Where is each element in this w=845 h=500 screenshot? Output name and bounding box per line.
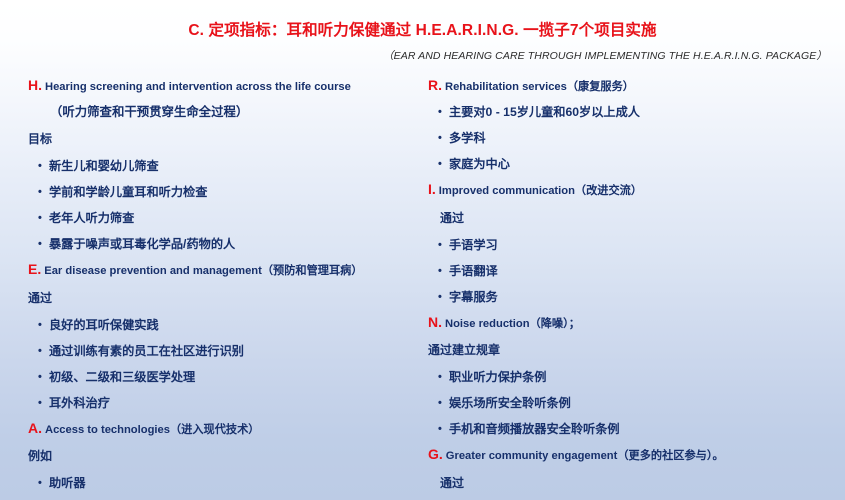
bullet-dot-icon: •: [438, 265, 449, 277]
list-item: •多学科: [428, 124, 833, 150]
list-item: •手机和音频播放器安全聆听条例: [428, 415, 833, 441]
list-item: •助听器: [28, 469, 428, 495]
bullet-dot-icon: •: [438, 371, 449, 383]
bullet-dot-icon: •: [38, 319, 49, 331]
program-heading-label: Rehabilitation services（康复服务）: [445, 81, 634, 93]
program-letter: I.: [428, 181, 436, 197]
program-heading-e: E.Ear disease prevention and management（…: [28, 256, 428, 282]
list-item-label: 手语翻译: [449, 264, 498, 278]
program-heading-h: H.Hearing screening and intervention acr…: [28, 72, 428, 98]
list-item: •老年人听力筛查: [28, 204, 428, 230]
list-item-label: 字幕服务: [449, 290, 498, 304]
list-item-label: 初级、二级和三级医学处理: [49, 370, 195, 384]
program-heading-label: Hearing screening and intervention acros…: [45, 81, 351, 93]
list-item-label: 多学科: [449, 131, 486, 145]
bullet-dot-icon: •: [38, 371, 49, 383]
list-item: •人工耳蜗: [28, 495, 428, 500]
bullet-dot-icon: •: [438, 158, 449, 170]
section-subheading: 通过: [28, 283, 428, 311]
bullet-dot-icon: •: [438, 397, 449, 409]
program-letter: R.: [428, 77, 442, 93]
bullet-dot-icon: •: [38, 345, 49, 357]
content-columns: H.Hearing screening and intervention acr…: [0, 72, 845, 500]
bullet-dot-icon: •: [38, 238, 49, 250]
list-item-label: 学前和学龄儿童耳和听力检查: [49, 185, 207, 199]
program-heading-a: A.Access to technologies（进入现代技术）: [28, 415, 428, 441]
title-block: C. 定项指标：耳和听力保健通过 H.E.A.R.I.N.G. 一揽子7个项目实…: [0, 22, 845, 63]
bullet-dot-icon: •: [38, 186, 49, 198]
list-item-label: 职业听力保护条例: [449, 370, 547, 384]
bullet-dot-icon: •: [38, 212, 49, 224]
list-item-label: 娱乐场所安全聆听条例: [449, 396, 571, 410]
program-heading-g: G.Greater community engagement（更多的社区参与）。: [428, 441, 833, 467]
right-column: R.Rehabilitation services（康复服务）•主要对0 - 1…: [428, 72, 833, 500]
bullet-dot-icon: •: [38, 477, 49, 489]
list-item-label: 手语学习: [449, 238, 498, 252]
left-column: H.Hearing screening and intervention acr…: [28, 72, 428, 500]
program-heading-n: N.Noise reduction（降噪）；: [428, 309, 833, 335]
list-item: •字幕服务: [428, 283, 833, 309]
list-item: •手语翻译: [428, 257, 833, 283]
list-item: •娱乐场所安全聆听条例: [428, 389, 833, 415]
list-item-label: 耳外科治疗: [49, 396, 110, 410]
list-item-label: 老年人听力筛查: [49, 211, 134, 225]
list-item: •手语学习: [428, 231, 833, 257]
program-heading-label: Noise reduction（降噪）；: [445, 318, 580, 330]
list-item: •家庭为中心: [428, 150, 833, 176]
section-subheading: 目标: [28, 124, 428, 152]
page-title: C. 定项指标：耳和听力保健通过 H.E.A.R.I.N.G. 一揽子7个项目实…: [0, 22, 845, 40]
list-item-label: 助听器: [49, 476, 86, 490]
bullet-dot-icon: •: [438, 239, 449, 251]
program-letter: H.: [28, 77, 42, 93]
list-item-label: 家庭为中心: [449, 157, 510, 171]
list-item: •初级、二级和三级医学处理: [28, 363, 428, 389]
list-item: •主要对0 - 15岁儿童和60岁以上成人: [428, 98, 833, 124]
bullet-dot-icon: •: [438, 423, 449, 435]
list-item-label: 手机和音频播放器安全聆听条例: [449, 422, 620, 436]
program-heading-label: Access to technologies（进入现代技术）: [45, 424, 259, 436]
list-item: •新生儿和婴幼儿筛查: [28, 152, 428, 178]
list-item: •通过训练有素的员工在社区进行识别: [28, 337, 428, 363]
list-item: •耳外科治疗: [28, 389, 428, 415]
list-item-label: 新生儿和婴幼儿筛查: [49, 159, 159, 173]
section-subheading: 通过建立规章: [428, 335, 833, 363]
bullet-dot-icon: •: [38, 397, 49, 409]
list-item: •职业听力保护条例: [428, 363, 833, 389]
bullet-dot-icon: •: [38, 160, 49, 172]
list-item-label: 暴露于噪声或耳毒化学品/药物的人: [49, 237, 235, 251]
program-letter: G.: [428, 446, 443, 462]
slide-canvas: C. 定项指标：耳和听力保健通过 H.E.A.R.I.N.G. 一揽子7个项目实…: [0, 0, 845, 500]
program-heading-label: Ear disease prevention and management（预防…: [44, 265, 362, 277]
list-item-label: 通过训练有素的员工在社区进行识别: [49, 344, 244, 358]
program-heading-label: Greater community engagement（更多的社区参与）。: [446, 450, 724, 462]
bullet-dot-icon: •: [438, 106, 449, 118]
section-subheading: 通过: [428, 468, 833, 496]
bullet-dot-icon: •: [438, 291, 449, 303]
program-letter: N.: [428, 314, 442, 330]
page-subtitle: （EAR AND HEARING CARE THROUGH IMPLEMENTI…: [0, 48, 845, 63]
program-heading-i: I.Improved communication（改进交流）: [428, 176, 833, 202]
list-item: •良好的耳听保健实践: [28, 311, 428, 337]
list-item: •宣传活动；加强听障和聋人的组织: [428, 496, 833, 500]
list-item-label: 良好的耳听保健实践: [49, 318, 159, 332]
program-letter: A.: [28, 420, 42, 436]
list-item: •学前和学龄儿童耳和听力检查: [28, 178, 428, 204]
section-subheading: 例如: [28, 441, 428, 469]
list-item: •暴露于噪声或耳毒化学品/药物的人: [28, 230, 428, 256]
heading-continuation-text: （听力筛查和干预贯穿生命全过程）: [28, 98, 428, 124]
list-item-label: 主要对0 - 15岁儿童和60岁以上成人: [449, 105, 640, 119]
program-heading-label: Improved communication（改进交流）: [439, 185, 642, 197]
program-letter: E.: [28, 261, 41, 277]
bullet-dot-icon: •: [438, 132, 449, 144]
program-heading-r: R.Rehabilitation services（康复服务）: [428, 72, 833, 98]
section-subheading: 通过: [428, 203, 833, 231]
